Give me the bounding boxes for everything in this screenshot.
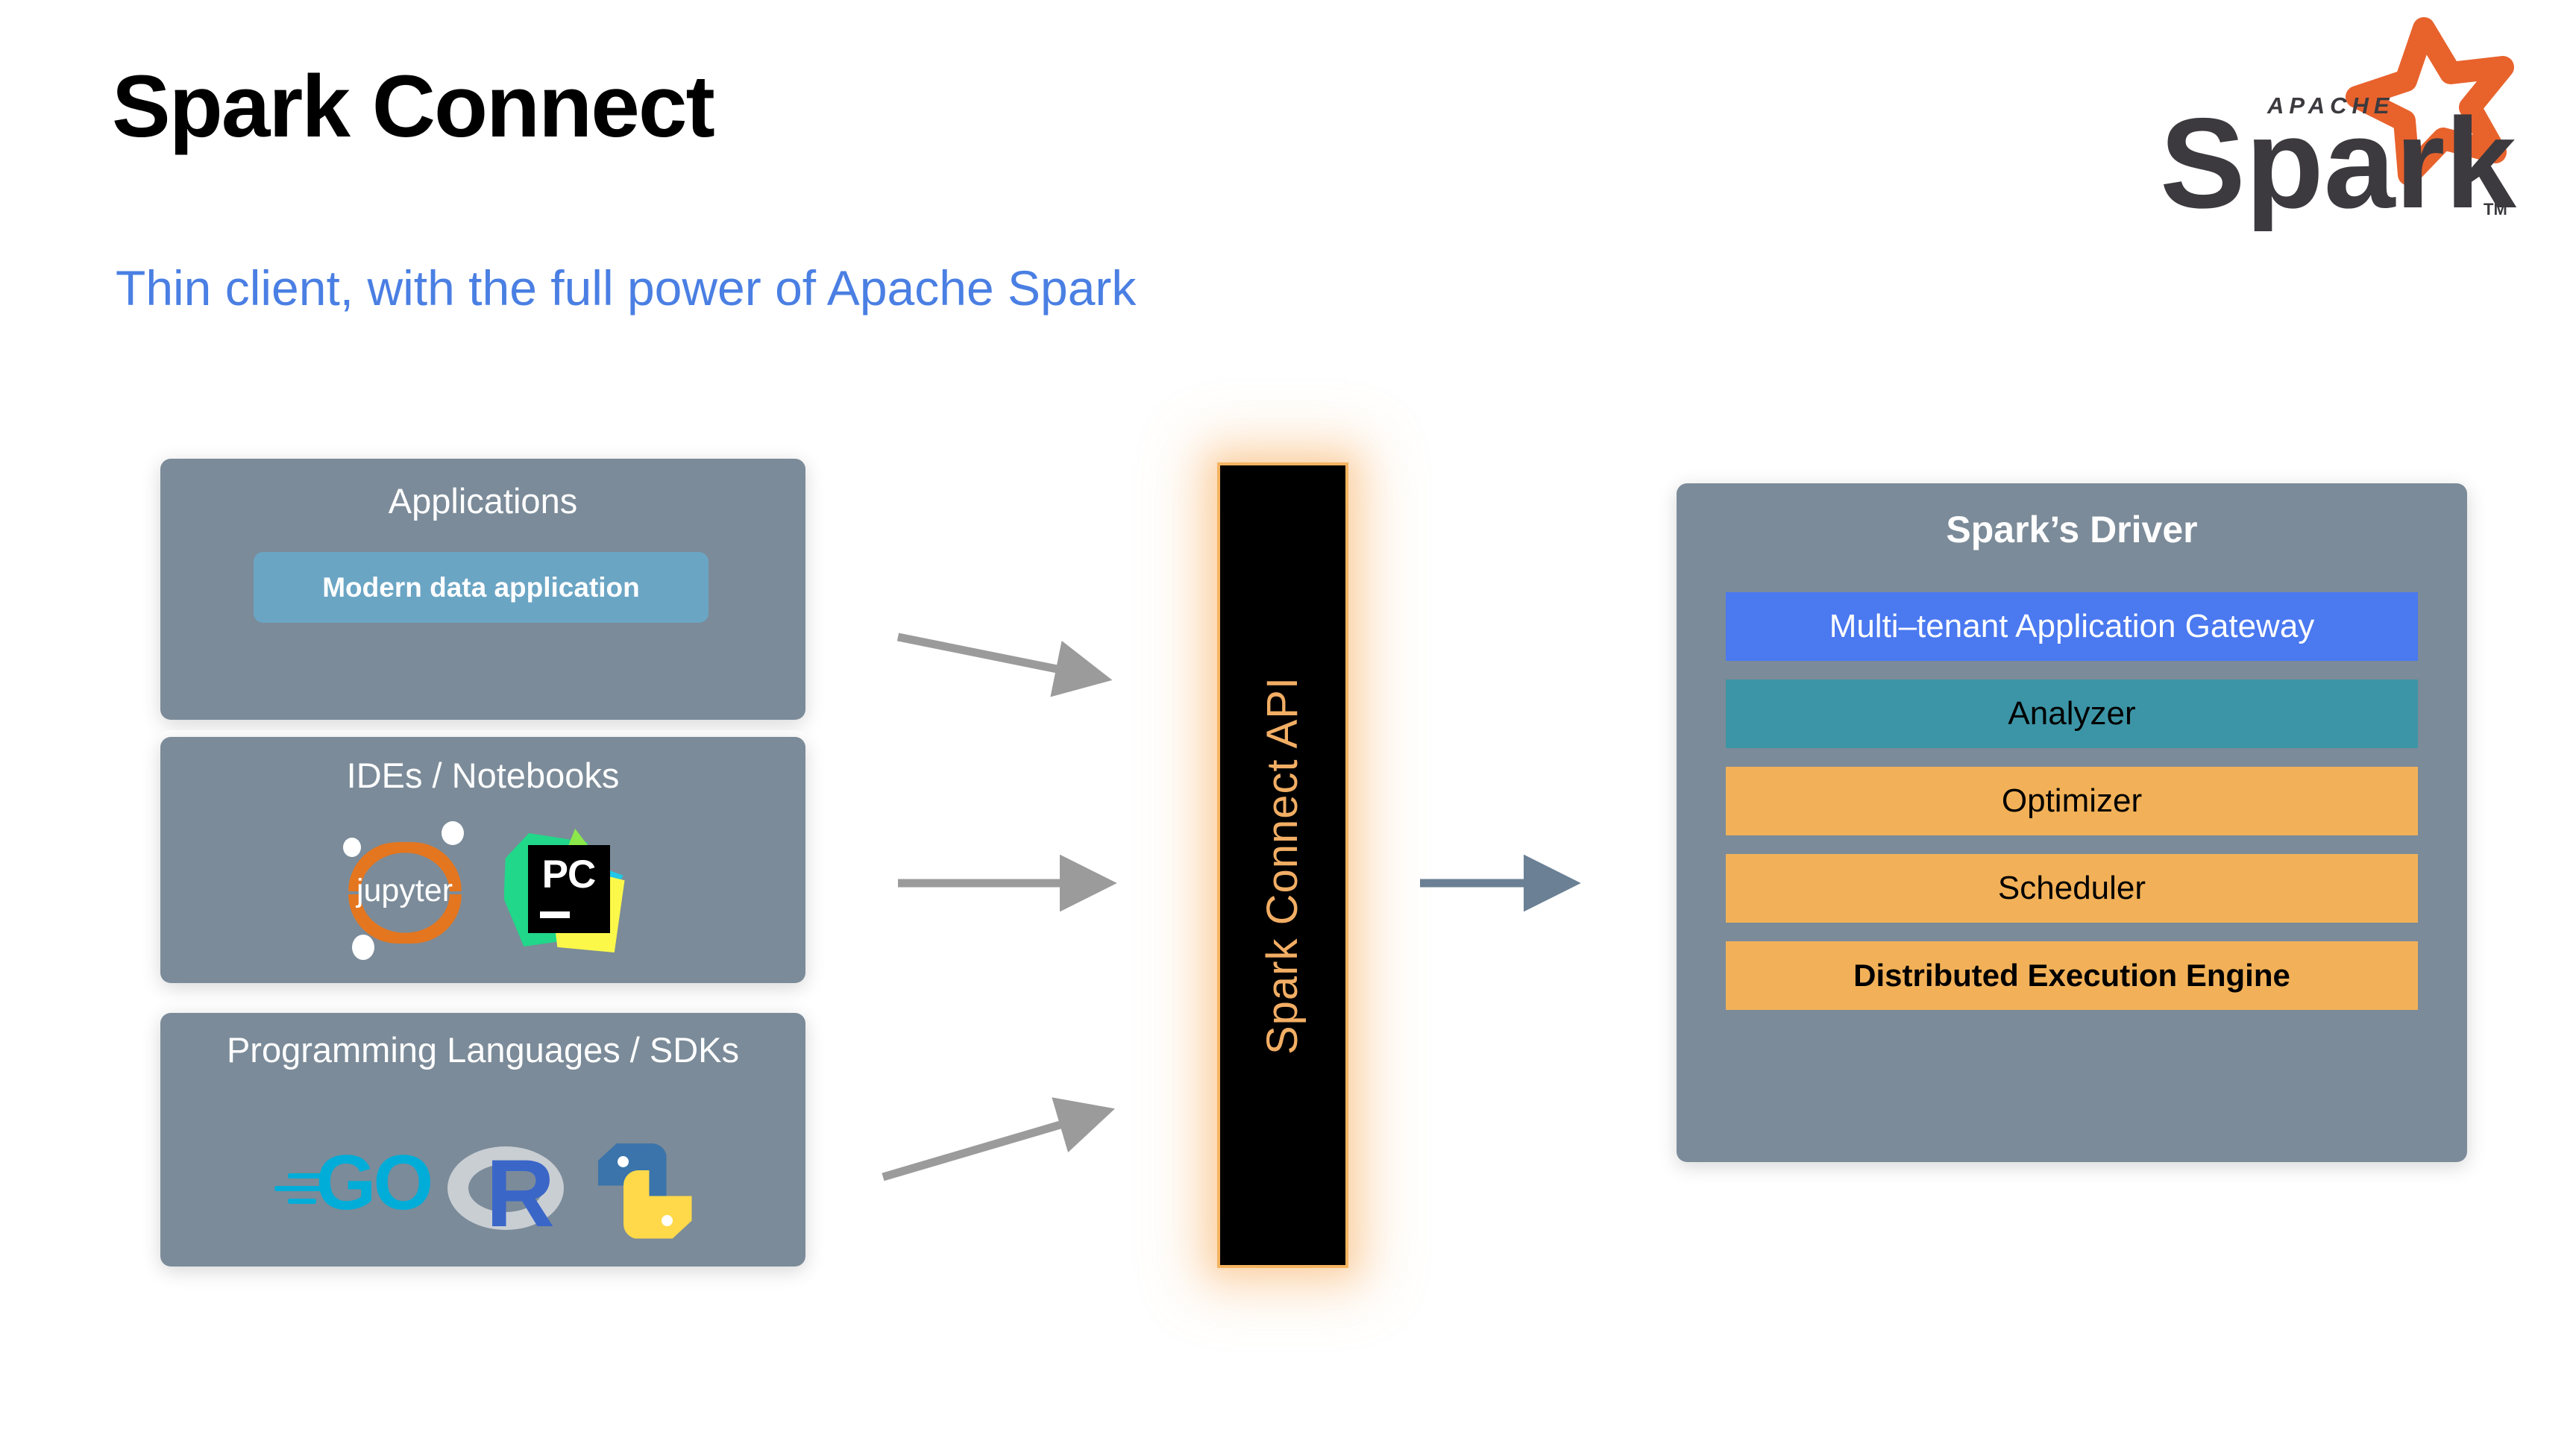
pycharm-badge: PC: [528, 845, 610, 933]
card-sparks-driver-title: Spark’s Driver: [1677, 509, 2467, 550]
apache-spark-logo: APACHE Spark TM: [2158, 15, 2531, 231]
spark-connect-api-bar[interactable]: Spark Connect API: [1217, 462, 1348, 1268]
card-ides-notebooks-title: IDEs / Notebooks: [160, 756, 805, 796]
page-title: Spark Connect: [112, 56, 714, 157]
card-applications-title: Applications: [160, 482, 805, 521]
driver-row-gateway[interactable]: Multi–tenant Application Gateway: [1726, 592, 2418, 661]
r-wordmark: R: [486, 1146, 555, 1242]
card-programming-languages-sdks-title: Programming Languages / SDKs: [160, 1031, 805, 1070]
go-logo: GO: [274, 1152, 422, 1230]
card-ides-notebooks[interactable]: IDEs / Notebooks jupyter PC: [160, 737, 805, 983]
ide-logo-row: jupyter PC: [160, 812, 805, 968]
card-applications[interactable]: Applications Modern data application: [160, 459, 805, 720]
spark-connect-api-label: Spark Connect API: [1258, 676, 1308, 1054]
arrow-applications-to-api: [895, 619, 1208, 738]
python-eye-icon: [618, 1156, 629, 1167]
jupyter-dot-icon: [352, 935, 374, 960]
driver-row-distributed-execution-engine[interactable]: Distributed Execution Engine: [1726, 941, 2418, 1010]
python-logo: [598, 1143, 692, 1239]
arrow-sdks-to-api: [880, 1059, 1208, 1201]
go-wordmark: GO: [316, 1144, 431, 1222]
jupyter-dot-icon: [343, 838, 361, 857]
driver-row-scheduler[interactable]: Scheduler: [1726, 854, 2418, 923]
python-eye-icon: [662, 1215, 673, 1226]
card-programming-languages-sdks[interactable]: Programming Languages / SDKs GO R: [160, 1013, 805, 1266]
jupyter-wordmark: jupyter: [339, 875, 471, 907]
r-logo: R: [447, 1136, 573, 1246]
jupyter-logo: jupyter: [339, 818, 471, 961]
page-subtitle: Thin client, with the full power of Apac…: [116, 260, 1136, 316]
driver-row-analyzer[interactable]: Analyzer: [1726, 679, 2418, 748]
arrow-ides-to-api: [895, 850, 1208, 917]
arrow-api-to-driver: [1417, 850, 1663, 917]
driver-component-stack: Multi–tenant Application Gateway Analyze…: [1726, 592, 2418, 1010]
pycharm-logo: PC: [503, 826, 628, 954]
pycharm-wordmark: PC: [528, 855, 610, 894]
card-sparks-driver[interactable]: Spark’s Driver Multi–tenant Application …: [1677, 483, 2467, 1162]
jupyter-dot-icon: [442, 821, 464, 845]
sdk-logo-row: GO R: [160, 1126, 805, 1256]
pycharm-underscore-icon: [540, 911, 570, 918]
spark-wordmark-text: Spark: [2160, 92, 2516, 231]
trademark-text: TM: [2484, 200, 2507, 219]
modern-data-application-box[interactable]: Modern data application: [254, 552, 709, 623]
driver-row-optimizer[interactable]: Optimizer: [1726, 767, 2418, 835]
